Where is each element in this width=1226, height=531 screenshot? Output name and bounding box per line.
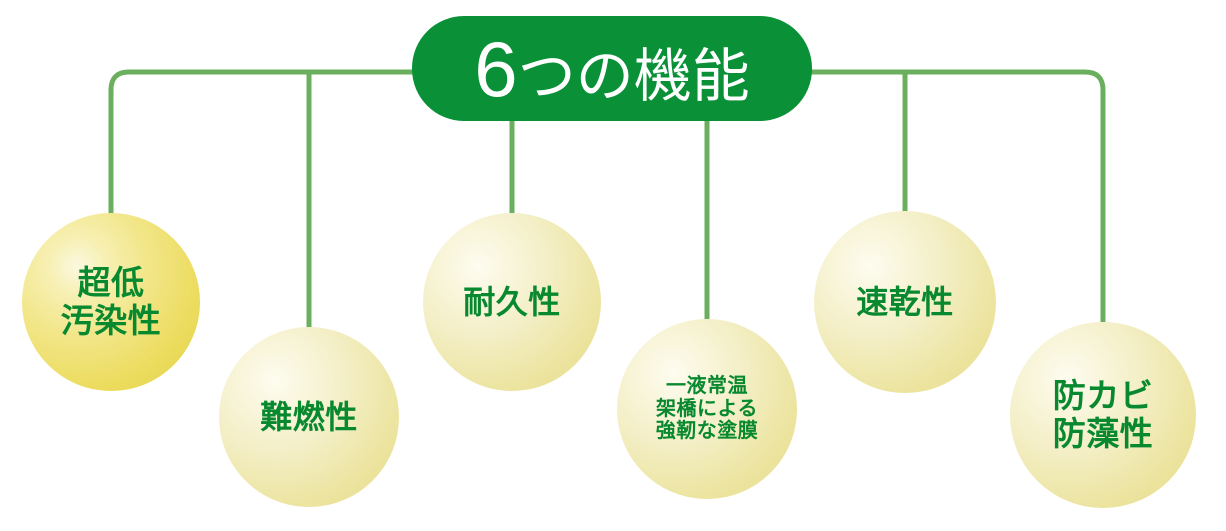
title-pill: 6つの機能 [412,16,812,121]
title-suffix: つの機能 [518,48,750,106]
title-pill-text: 6つの機能 [474,30,749,108]
feature-diagram: 6つの機能 超低 汚染性 難燃性 耐久性 一液常温 架橋による 強靭な塗膜 速乾… [0,0,1226,531]
feature-node-5[interactable]: 速乾性 [814,211,996,393]
feature-node-3[interactable]: 耐久性 [423,213,601,391]
feature-label-4: 一液常温 架橋による 強靭な塗膜 [652,375,763,443]
feature-label-1: 超低 汚染性 [57,264,166,339]
feature-node-1[interactable]: 超低 汚染性 [22,213,200,391]
feature-label-5: 速乾性 [852,284,958,320]
feature-label-6: 防カビ 防藻性 [1049,377,1158,452]
feature-label-3: 耐久性 [459,284,565,320]
feature-node-6[interactable]: 防カビ 防藻性 [1010,322,1196,508]
feature-label-2: 難燃性 [256,399,362,435]
feature-node-4[interactable]: 一液常温 架橋による 強靭な塗膜 [617,319,797,499]
feature-node-2[interactable]: 難燃性 [219,327,399,507]
title-number: 6 [474,30,515,108]
